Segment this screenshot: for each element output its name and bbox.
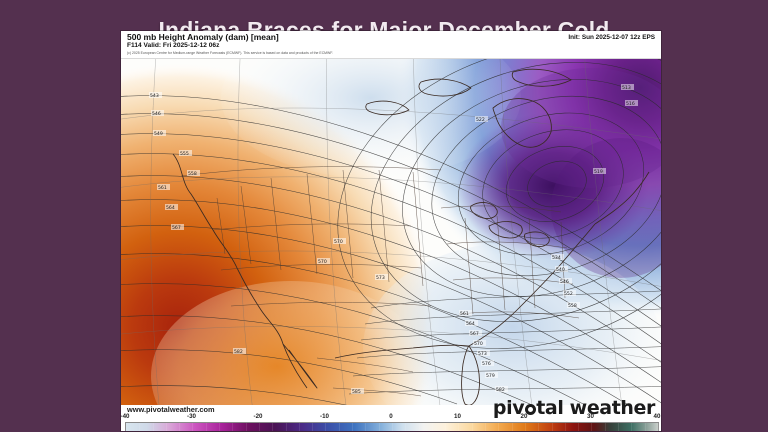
colorbar-tick-label: 10 (454, 413, 461, 420)
svg-text:579: 579 (486, 373, 495, 379)
colorbar-segment (259, 423, 273, 431)
map-canvas[interactable]: 543 546 549 555 558 561 564 567 570 570 … (121, 58, 661, 405)
colorbar-tick-label: 30 (587, 413, 594, 420)
svg-text:561: 561 (158, 185, 167, 191)
map-title: 500 mb Height Anomaly (dam) [mean] (127, 32, 279, 42)
colorbar-segment (631, 423, 645, 431)
colorbar-segment (485, 423, 499, 431)
colorbar-segment (286, 423, 300, 431)
svg-text:540: 540 (556, 267, 565, 273)
svg-text:558: 558 (568, 303, 577, 309)
svg-text:546: 546 (152, 111, 161, 117)
svg-text:576: 576 (482, 361, 491, 367)
svg-text:516: 516 (626, 101, 635, 107)
colorbar-segment (126, 423, 140, 431)
svg-text:567: 567 (172, 225, 181, 231)
svg-text:549: 549 (154, 131, 163, 137)
svg-text:519: 519 (594, 169, 603, 175)
colorbar-tick-label: 40 (654, 413, 661, 420)
colorbar-segment (312, 423, 326, 431)
colorbar-segment (512, 423, 526, 431)
colorbar-segment (552, 423, 566, 431)
colorbar-segment (352, 423, 366, 431)
map-layers: 543 546 549 555 558 561 564 567 570 570 … (121, 58, 661, 405)
colorbar-segment (459, 423, 473, 431)
svg-text:573: 573 (376, 275, 385, 281)
colorbar-tick-label: 0 (389, 413, 392, 420)
svg-text:582: 582 (234, 349, 243, 355)
colorbar (125, 422, 659, 431)
colorbar-segment (445, 423, 459, 431)
svg-text:564: 564 (166, 205, 175, 211)
svg-text:555: 555 (180, 151, 189, 157)
colorbar-segment (525, 423, 539, 431)
svg-text:543: 543 (150, 93, 159, 99)
colorbar-segment (379, 423, 393, 431)
colorbar-segment (139, 423, 153, 431)
colorbar-tick-label: 20 (521, 413, 528, 420)
colorbar-segment (206, 423, 220, 431)
colorbar-segment (153, 423, 167, 431)
colorbar-segment (605, 423, 619, 431)
colorbar-segment (299, 423, 313, 431)
screenshot-root: Indiana Braces for Major December Cold 5… (0, 0, 768, 432)
svg-text:552: 552 (564, 291, 573, 297)
colorbar-segment (232, 423, 246, 431)
colorbar-segment (326, 423, 340, 431)
colorbar-tick-label: -40 (121, 413, 129, 420)
colorbar-segment (498, 423, 512, 431)
weather-map-panel[interactable]: 500 mb Height Anomaly (dam) [mean] F114 … (121, 31, 661, 431)
colorbar-segment (392, 423, 406, 431)
map-valid-time: F114 Valid: Fri 2025-12-12 06z (127, 42, 219, 49)
anomaly-map-svg: 543 546 549 555 558 561 564 567 570 570 … (121, 58, 661, 405)
colorbar-tick-label: -10 (320, 413, 329, 420)
colorbar-segment (618, 423, 632, 431)
colorbar-tick-label: -20 (254, 413, 263, 420)
colorbar-segment (339, 423, 353, 431)
colorbar-segment (405, 423, 419, 431)
svg-text:513: 513 (622, 85, 631, 91)
svg-text:561: 561 (460, 311, 469, 317)
colorbar-segment (578, 423, 592, 431)
colorbar-segment (565, 423, 579, 431)
map-attribution: (c) 2025 European Centre for Medium-rang… (127, 51, 333, 55)
colorbar-segment (179, 423, 193, 431)
colorbar-segment (193, 423, 207, 431)
svg-text:522: 522 (476, 117, 485, 123)
colorbar-segment (272, 423, 286, 431)
colorbar-tick-label: -30 (187, 413, 196, 420)
colorbar-segment (166, 423, 180, 431)
svg-text:570: 570 (474, 341, 483, 347)
map-init-time: Init: Sun 2025-12-07 12z EPS (568, 34, 655, 41)
svg-text:564: 564 (466, 321, 475, 327)
svg-text:573: 573 (478, 351, 487, 357)
colorbar-segment (592, 423, 606, 431)
svg-text:558: 558 (188, 171, 197, 177)
colorbar-segment (472, 423, 486, 431)
svg-text:585: 585 (352, 389, 361, 395)
svg-text:582: 582 (496, 387, 505, 393)
colorbar-segment (246, 423, 260, 431)
svg-text:567: 567 (470, 331, 479, 337)
svg-text:570: 570 (334, 239, 343, 245)
colorbar-segment (432, 423, 446, 431)
svg-text:534: 534 (552, 255, 561, 261)
colorbar-segment (419, 423, 433, 431)
colorbar-segment (219, 423, 233, 431)
svg-text:546: 546 (560, 279, 569, 285)
colorbar-segment (365, 423, 379, 431)
map-header: 500 mb Height Anomaly (dam) [mean] F114 … (121, 31, 661, 59)
colorbar-segment (538, 423, 552, 431)
svg-text:570: 570 (318, 259, 327, 265)
colorbar-segment (645, 423, 659, 431)
